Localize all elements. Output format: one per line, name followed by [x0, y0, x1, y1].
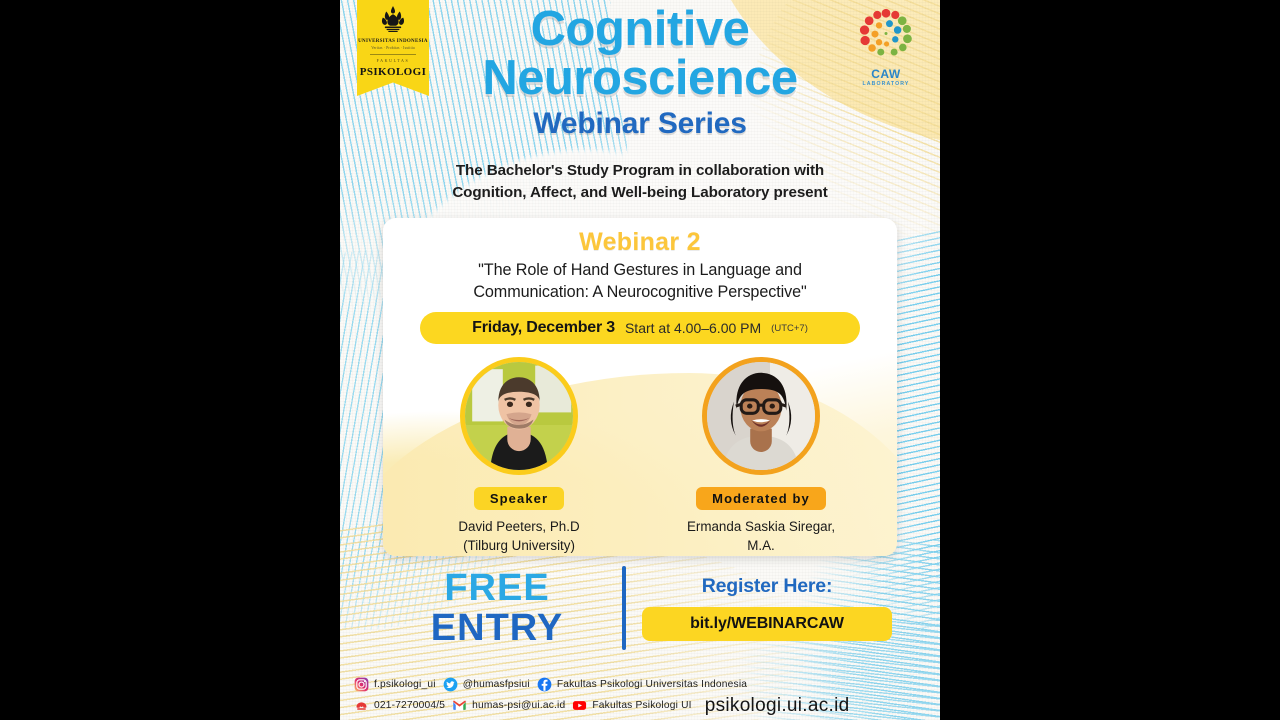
moderator-affiliation: (Universitas Indonesia) — [686, 555, 836, 556]
facebook-item[interactable]: Fakultas Psikologi Universitas Indonesia — [537, 677, 747, 692]
website-url: psikologi.ui.ac.id — [705, 695, 850, 717]
makara-crest-icon — [376, 4, 410, 38]
free-entry-block: FREE ENTRY — [388, 568, 606, 648]
speaker-avatar — [460, 357, 578, 475]
facebook-page-name: Fakultas Psikologi Universitas Indonesia — [557, 679, 747, 690]
youtube-channel-name: Fakultas Psikologi UI — [592, 700, 691, 711]
footer-row-2: 021-7270004/5 humas-psi@ui.ac.id — [354, 695, 926, 716]
caw-name: CAW — [871, 67, 901, 81]
instagram-item[interactable]: f.psikologi_ui — [354, 677, 436, 692]
register-label: Register Here: — [642, 575, 892, 598]
screen: UNIVERSITAS INDONESIA Veritas · Probitas… — [0, 0, 1280, 720]
moderator-role-badge: Moderated by — [696, 487, 826, 510]
webinar-poster: UNIVERSITAS INDONESIA Veritas · Probitas… — [340, 0, 940, 720]
facebook-icon — [537, 677, 552, 692]
registration-section: FREE ENTRY Register Here: bit.ly/WEBINAR… — [340, 566, 940, 650]
twitter-handle: @humasfpsiui — [463, 679, 530, 690]
speaker-name: David Peeters, Ph.D — [444, 517, 594, 536]
webinar-topic-line-2: Communication: A Neurocognitive Perspect… — [415, 281, 865, 303]
youtube-icon — [572, 698, 587, 713]
moderator-name: Ermanda Saskia Siregar, M.A. — [686, 517, 836, 555]
phone-number: 021-7270004/5 — [374, 700, 445, 711]
entry-text: ENTRY — [388, 608, 606, 648]
webinar-detail-card: Webinar 2 "The Role of Hand Gestures in … — [383, 218, 897, 556]
email-item[interactable]: humas-psi@ui.ac.id — [452, 698, 565, 713]
register-link-button[interactable]: bit.ly/WEBINARCAW — [642, 607, 892, 641]
speaker-block: Speaker David Peeters, Ph.D (Tilburg Uni… — [444, 357, 594, 556]
footer-contact-bar: f.psikologi_ui @humasfpsiui Fakultas Psi… — [340, 674, 940, 716]
caw-laboratory-logo: CAW LABORATORY — [848, 8, 924, 87]
ui-motto: Veritas · Probitas · Iustitia — [371, 46, 415, 50]
speaker-affiliation: (Tilburg University) — [444, 536, 594, 555]
title-line-webinar-series: Webinar Series — [340, 107, 940, 141]
vertical-divider — [622, 566, 626, 650]
instagram-handle: f.psikologi_ui — [374, 679, 436, 690]
telephone-item: 021-7270004/5 — [354, 698, 445, 713]
caw-dots-icon — [856, 8, 916, 66]
speaker-role-badge: Speaker — [474, 487, 564, 510]
ui-faculty-label: FAKULTAS — [377, 58, 410, 63]
footer-row-1: f.psikologi_ui @humasfpsiui Fakultas Psi… — [354, 674, 926, 695]
webinar-topic-line-1: "The Role of Hand Gestures in Language a… — [415, 259, 865, 281]
ui-university-name: UNIVERSITAS INDONESIA — [358, 39, 428, 45]
webinar-topic-title: "The Role of Hand Gestures in Language a… — [383, 259, 897, 303]
caw-subtitle: LABORATORY — [863, 81, 910, 87]
twitter-item[interactable]: @humasfpsiui — [443, 677, 530, 692]
people-row: Speaker David Peeters, Ph.D (Tilburg Uni… — [383, 357, 897, 556]
free-text: FREE — [388, 568, 606, 608]
email-address: humas-psi@ui.ac.id — [472, 700, 565, 711]
moderator-block: Moderated by Ermanda Saskia Siregar, M.A… — [686, 357, 836, 556]
poster-subtitle-block: The Bachelor's Study Program in collabor… — [340, 160, 940, 204]
subtitle-line-1: The Bachelor's Study Program in collabor… — [340, 160, 940, 182]
event-timezone: (UTC+7) — [771, 323, 808, 334]
webinar-number: Webinar 2 — [383, 228, 897, 257]
ui-faculty-name: PSIKOLOGI — [360, 66, 427, 78]
date-time-badge: Friday, December 3 Start at 4.00–6.00 PM… — [420, 312, 860, 344]
telephone-icon — [354, 698, 369, 713]
gmail-icon — [452, 698, 467, 713]
youtube-item[interactable]: Fakultas Psikologi UI — [572, 698, 691, 713]
moderator-avatar — [702, 357, 820, 475]
instagram-icon — [354, 677, 369, 692]
universitas-indonesia-logo: UNIVERSITAS INDONESIA Veritas · Probitas… — [357, 0, 429, 96]
ui-divider — [370, 54, 416, 55]
event-time: Start at 4.00–6.00 PM — [625, 320, 761, 336]
twitter-icon — [443, 677, 458, 692]
register-block: Register Here: bit.ly/WEBINARCAW — [642, 575, 892, 641]
subtitle-line-2: Cognition, Affect, and Well-being Labora… — [340, 182, 940, 204]
event-date: Friday, December 3 — [472, 319, 615, 337]
